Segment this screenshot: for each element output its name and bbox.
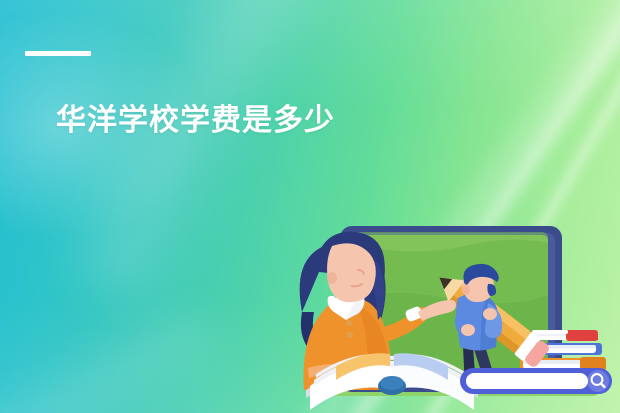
education-illustration <box>280 190 620 413</box>
search-input <box>466 373 588 389</box>
search-bar <box>460 368 612 394</box>
book-top <box>532 330 598 341</box>
page-title: 华洋学校学费是多少 <box>56 100 476 142</box>
student-hand-lower <box>461 324 475 336</box>
title-accent-rule <box>25 51 91 56</box>
student-hand-upper <box>483 308 497 320</box>
article-cover-banner: 华洋学校学费是多少 <box>0 0 620 413</box>
